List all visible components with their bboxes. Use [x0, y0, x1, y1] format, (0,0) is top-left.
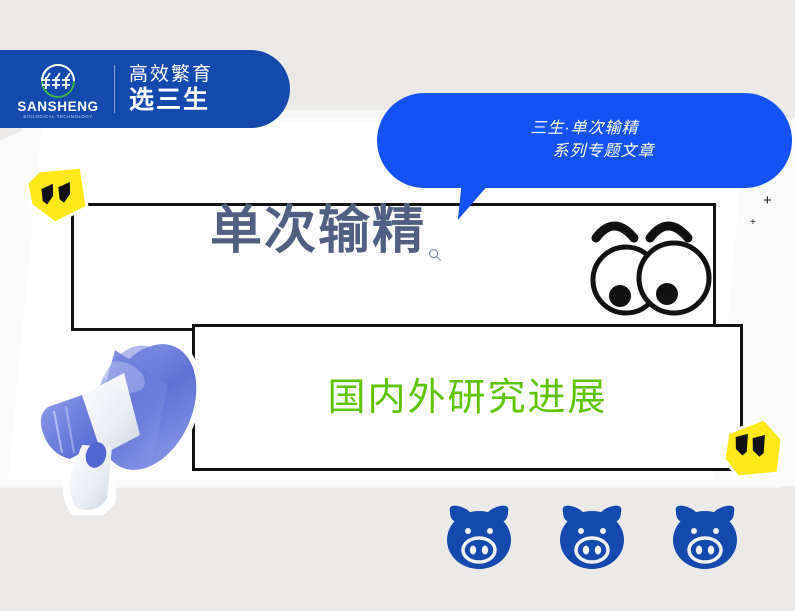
brand-subtitle: BIOLOGICAL TECHNOLOGY	[23, 115, 92, 119]
title-frame-lower: 国内外研究进展	[192, 324, 743, 471]
pig-face-icon	[666, 500, 744, 577]
page-title-text: 单次输精	[210, 205, 426, 257]
bubble-line-1: 三生·单次输精	[530, 118, 638, 140]
megaphone-icon	[18, 315, 203, 520]
cartoon-eyes-icon	[588, 208, 716, 325]
sansheng-sprout-logo-icon	[30, 59, 86, 99]
pig-icon-row	[440, 500, 744, 577]
sparkle-plus-icon: +	[763, 193, 772, 208]
bubble-line-2: 系列专题文章	[552, 141, 654, 163]
poster-canvas: SANSHENG BIOLOGICAL TECHNOLOGY 高效繁育 选三生 …	[0, 0, 795, 611]
slogan-line-2: 选三生	[129, 86, 213, 115]
header-divider	[114, 65, 115, 113]
speech-bubble-tail	[458, 178, 512, 220]
pig-face-icon	[553, 500, 631, 577]
series-speech-bubble: 三生·单次输精 系列专题文章	[377, 93, 792, 188]
brand-header-bar: SANSHENG BIOLOGICAL TECHNOLOGY 高效繁育 选三生	[0, 50, 290, 128]
quote-close-badge	[720, 415, 788, 488]
search-icon	[428, 219, 442, 271]
subtitle-text: 国内外研究进展	[327, 379, 607, 417]
sparkle-plus-icon: +	[750, 218, 756, 228]
brand-logo: SANSHENG BIOLOGICAL TECHNOLOGY	[12, 59, 104, 120]
slogan-line-1: 高效繁育	[129, 64, 213, 86]
brand-name: SANSHENG	[17, 100, 98, 114]
quote-open-badge	[25, 165, 93, 232]
brand-slogan: 高效繁育 选三生	[129, 64, 213, 115]
pig-face-icon	[440, 500, 518, 577]
page-title: 单次输精	[210, 205, 442, 271]
